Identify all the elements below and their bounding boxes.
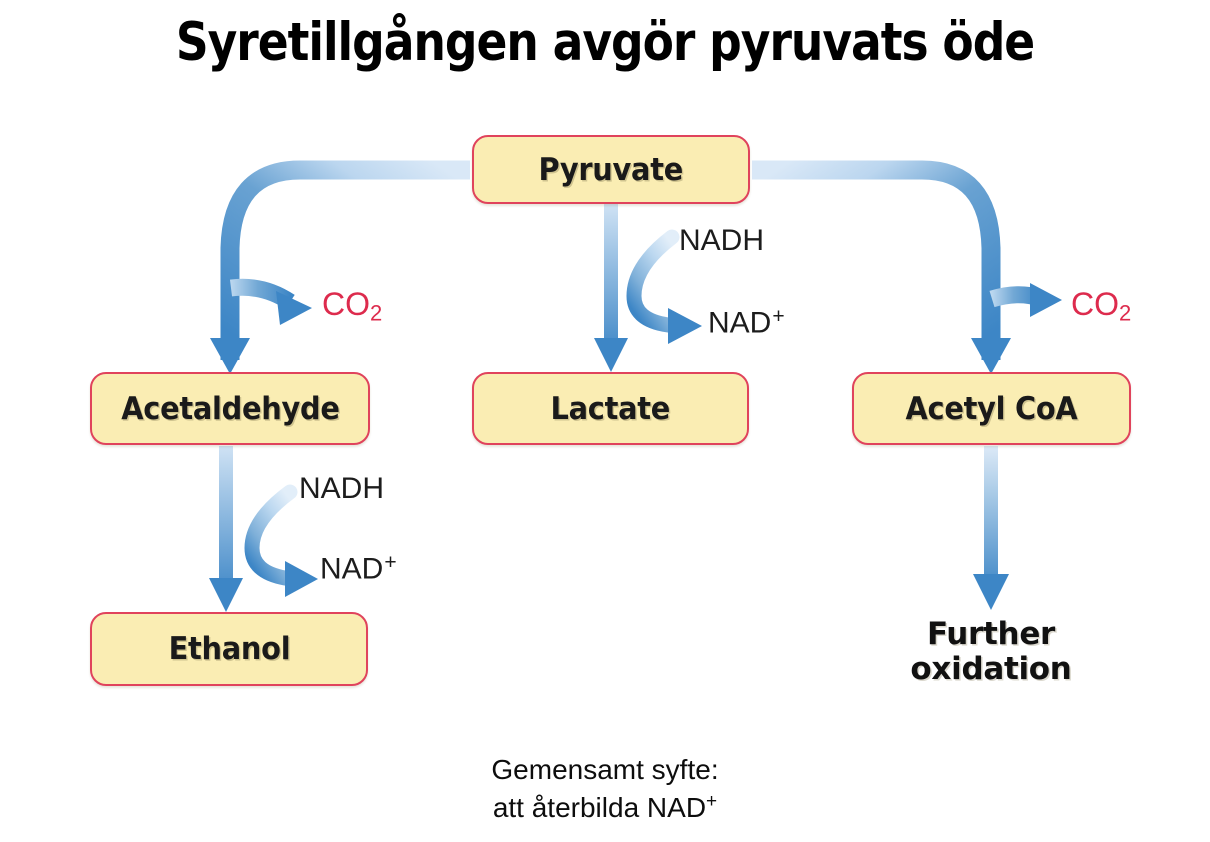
label-nadh-lactate: NADH bbox=[679, 224, 764, 258]
node-ethanol-label: Ethanol bbox=[168, 631, 290, 667]
arrow-co2-right bbox=[992, 283, 1062, 317]
arrow-nadh-to-nad-ethanol bbox=[252, 492, 318, 597]
co2-right-formula: CO bbox=[1071, 286, 1119, 322]
caption: Gemensamt syfte: att återbilda NAD+ bbox=[0, 752, 1210, 827]
label-nad-ethanol: NAD+ bbox=[320, 551, 397, 587]
arrow-acetaldehyde-to-ethanol bbox=[209, 446, 243, 612]
node-acetaldehyde-label: Acetaldehyde bbox=[121, 391, 339, 427]
label-nadh-ethanol: NADH bbox=[299, 472, 384, 506]
label-co2-left: CO2 bbox=[322, 286, 382, 327]
nadh-lactate-text: NADH bbox=[679, 224, 764, 257]
arrow-pyruvate-to-acetyl-coa bbox=[752, 170, 1011, 374]
further-oxidation-line-1: Further bbox=[861, 617, 1121, 652]
nad-lactate-text: NAD bbox=[708, 307, 771, 340]
caption-line-2-superscript: + bbox=[706, 791, 717, 812]
arrow-co2-left bbox=[231, 287, 312, 325]
arrow-acetyl-coa-to-further-oxidation bbox=[973, 446, 1009, 610]
node-further-oxidation: Further oxidation bbox=[861, 617, 1121, 686]
arrow-pyruvate-to-acetaldehyde bbox=[210, 170, 470, 374]
nadh-ethanol-text: NADH bbox=[299, 472, 384, 505]
label-co2-right: CO2 bbox=[1071, 286, 1131, 327]
caption-line-1: Gemensamt syfte: bbox=[0, 752, 1210, 789]
further-oxidation-line-2: oxidation bbox=[861, 652, 1121, 687]
node-acetaldehyde[interactable]: Acetaldehyde bbox=[90, 372, 370, 445]
nad-lactate-superscript: + bbox=[772, 305, 784, 328]
node-ethanol[interactable]: Ethanol bbox=[90, 612, 368, 686]
co2-left-formula: CO bbox=[322, 286, 370, 322]
co2-right-subscript: 2 bbox=[1119, 301, 1131, 326]
node-lactate-label: Lactate bbox=[551, 391, 671, 427]
nad-ethanol-text: NAD bbox=[320, 553, 383, 586]
arrow-pyruvate-to-lactate bbox=[594, 204, 628, 372]
label-nad-lactate: NAD+ bbox=[708, 305, 785, 341]
node-acetyl-coa[interactable]: Acetyl CoA bbox=[852, 372, 1131, 445]
co2-left-subscript: 2 bbox=[370, 301, 382, 326]
caption-line-2: att återbilda NAD+ bbox=[0, 789, 1210, 827]
node-pyruvate[interactable]: Pyruvate bbox=[472, 135, 750, 204]
nad-ethanol-superscript: + bbox=[384, 551, 396, 574]
node-pyruvate-label: Pyruvate bbox=[539, 152, 684, 188]
node-lactate[interactable]: Lactate bbox=[472, 372, 749, 445]
node-acetyl-coa-label: Acetyl CoA bbox=[906, 391, 1078, 427]
caption-line-2-text: att återbilda NAD bbox=[493, 792, 706, 823]
diagram-canvas: Syretillgången avgör pyruvats öde bbox=[0, 0, 1210, 842]
